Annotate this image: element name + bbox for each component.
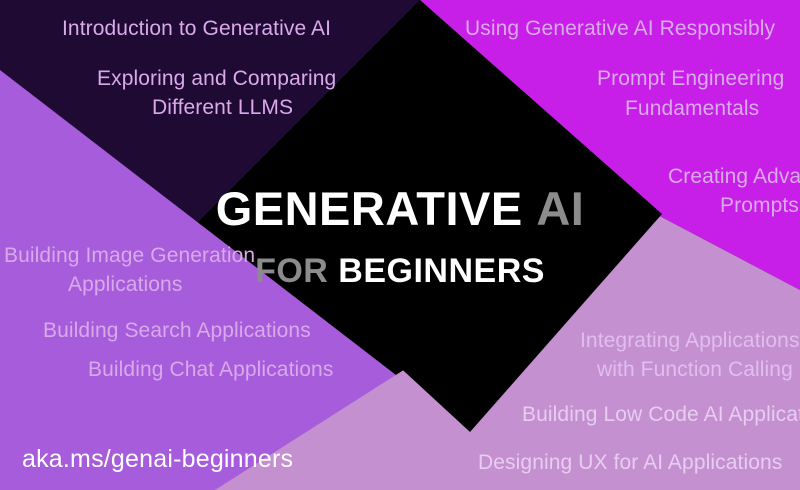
- topic-integrating-applications-line1: Integrating Applications: [580, 326, 800, 355]
- topic-creating-advanced-prompts-line2: Prompts: [720, 191, 799, 220]
- topic-prompt-engineering-line2: Fundamentals: [625, 94, 759, 123]
- aka-ms-link[interactable]: aka.ms/genai-beginners: [22, 445, 293, 474]
- topic-creating-advanced-prompts-line1: Creating Advanced: [668, 162, 800, 191]
- topic-designing-ux-for-ai-applications: Designing UX for AI Applications: [478, 448, 782, 477]
- topic-using-generative-ai-responsibly: Using Generative AI Responsibly: [465, 14, 775, 43]
- topic-prompt-engineering-line1: Prompt Engineering: [597, 64, 784, 93]
- topic-building-search-applications: Building Search Applications: [43, 316, 311, 345]
- topic-introduction-to-generative-ai: Introduction to Generative AI: [62, 14, 331, 43]
- topic-building-image-generation-line2: Applications: [68, 270, 182, 299]
- topic-integrating-applications-line2: with Function Calling: [597, 355, 793, 384]
- topic-exploring-comparing-line1: Exploring and Comparing: [97, 64, 336, 93]
- poster-canvas: Introduction to Generative AI Exploring …: [0, 0, 800, 490]
- topic-building-low-code-ai-applications: Building Low Code AI Applications: [522, 400, 800, 429]
- topic-building-chat-applications: Building Chat Applications: [88, 355, 333, 384]
- topic-exploring-comparing-line2: Different LLMS: [152, 93, 293, 122]
- topic-building-image-generation-line1: Building Image Generation: [4, 241, 255, 270]
